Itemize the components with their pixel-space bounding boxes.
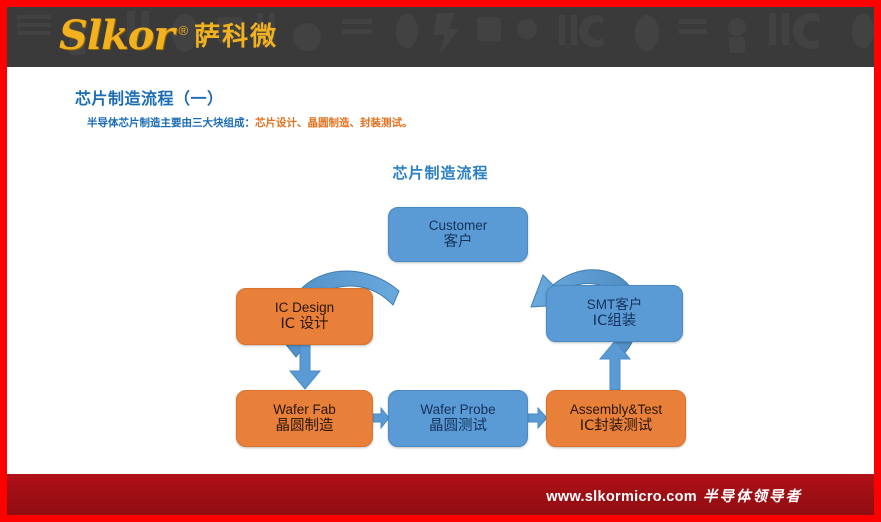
registered-trademark-icon: ® xyxy=(179,23,189,38)
arrow-assembly-to-smt xyxy=(599,340,631,391)
node-customer[interactable]: Customer 客户 xyxy=(388,207,528,262)
node-ic-design-cn: IC 设计 xyxy=(280,316,328,333)
footer-branding: www.slkormicro.com半导体领导者 xyxy=(546,485,802,506)
node-ic-design-en: IC Design xyxy=(275,300,334,316)
logo[interactable]: Slkor ® 萨科微 xyxy=(59,16,278,56)
arrow-ic-design-to-wafer-fab xyxy=(289,343,321,391)
node-wafer-probe-en: Wafer Probe xyxy=(420,402,495,418)
node-wafer-fab[interactable]: Wafer Fab 晶圆制造 xyxy=(236,390,373,447)
logo-chinese-name: 萨科微 xyxy=(194,16,278,53)
node-customer-cn: 客户 xyxy=(444,234,473,251)
site-footer: www.slkormicro.com半导体领导者 xyxy=(7,473,874,515)
node-assembly-test-cn: IC封装测试 xyxy=(580,418,652,435)
node-wafer-fab-cn: 晶圆制造 xyxy=(276,418,334,435)
node-wafer-probe[interactable]: Wafer Probe 晶圆测试 xyxy=(388,390,528,447)
slide-frame: Slkor ® 萨科微 芯片制造流程（一） 半导体芯片制造主要由三大块组成：芯片… xyxy=(7,7,874,515)
logo-wordmark: Slkor xyxy=(59,16,174,56)
node-assembly-test[interactable]: Assembly&Test IC封装测试 xyxy=(546,390,686,447)
slide-content: 芯片制造流程（一） 半导体芯片制造主要由三大块组成：芯片设计、晶圆制造、封装测试… xyxy=(7,67,874,467)
footer-slogan: 半导体领导者 xyxy=(703,488,802,505)
node-wafer-fab-en: Wafer Fab xyxy=(273,402,336,418)
node-ic-design[interactable]: IC Design IC 设计 xyxy=(236,288,373,345)
node-customer-en: Customer xyxy=(429,218,488,234)
node-assembly-test-en: Assembly&Test xyxy=(570,402,662,418)
node-smt-en: SMT客户 xyxy=(587,297,643,313)
node-smt[interactable]: SMT客户 IC组装 xyxy=(546,285,683,342)
arrow-wafer-probe-to-assembly xyxy=(526,407,548,429)
footer-url[interactable]: www.slkormicro.com xyxy=(546,489,697,505)
node-smt-cn: IC组装 xyxy=(593,313,636,330)
site-header: Slkor ® 萨科微 xyxy=(7,7,874,67)
node-wafer-probe-cn: 晶圆测试 xyxy=(429,418,487,435)
process-flow-diagram: Customer 客户 IC Design IC 设计 SMT客户 IC组装 W… xyxy=(7,67,874,467)
